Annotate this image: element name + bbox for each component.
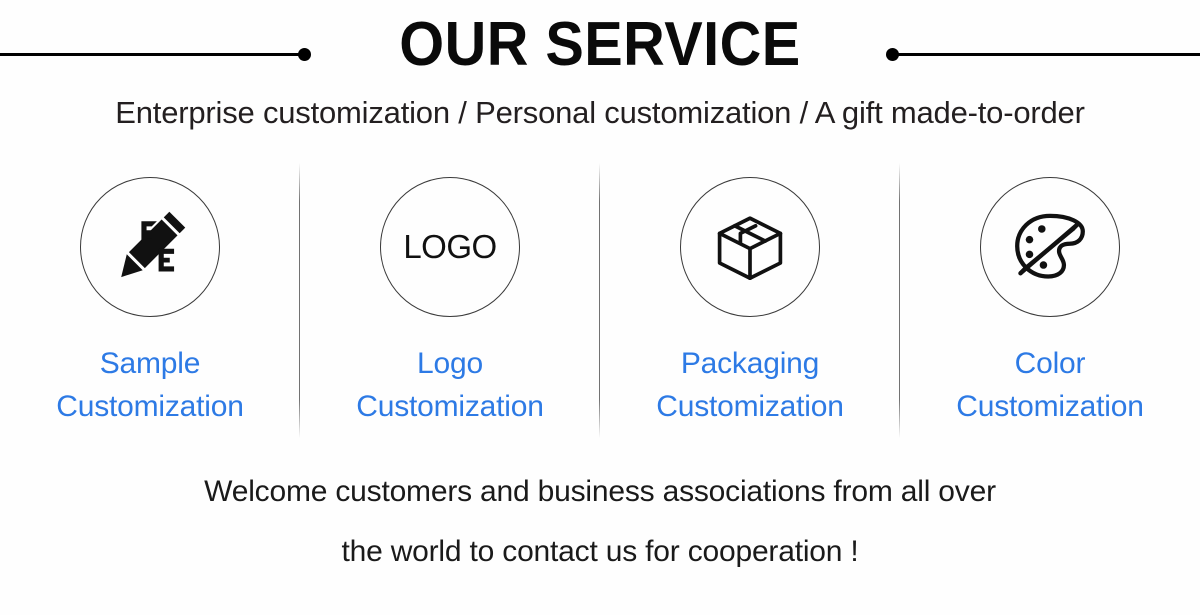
card-label-line1: Packaging — [681, 347, 819, 380]
service-card-label: Color Customization — [956, 343, 1143, 428]
logo-text-icon: LOGO — [403, 228, 496, 266]
icon-circle: LOGO — [380, 177, 520, 317]
card-label-line1: Color — [1015, 347, 1086, 380]
banner-subtitle: Enterprise customization / Personal cust… — [0, 95, 1200, 131]
card-label-line1: Sample — [100, 347, 201, 380]
service-card-label: Logo Customization — [356, 343, 543, 428]
card-label-line1: Logo — [417, 347, 483, 380]
card-label-line2: Customization — [356, 386, 543, 429]
service-card-label: Packaging Customization — [656, 343, 843, 428]
service-card-logo[interactable]: LOGO Logo Customization — [300, 155, 600, 445]
service-card-packaging[interactable]: Packaging Customization — [600, 155, 900, 445]
page-title: OUR SERVICE — [42, 0, 1158, 90]
service-banner: OUR SERVICE Enterprise customization / P… — [0, 0, 1200, 615]
banner-header: OUR SERVICE — [0, 0, 1200, 90]
footer-line-1: Welcome customers and business associati… — [0, 462, 1200, 522]
footer-line-2: the world to contact us for cooperation … — [0, 522, 1200, 582]
banner-footer: Welcome customers and business associati… — [0, 462, 1200, 582]
box-package-icon — [710, 207, 790, 287]
service-card-row: Sample Customization LOGO Logo Customiza… — [0, 155, 1200, 445]
service-card-color[interactable]: Color Customization — [900, 155, 1200, 445]
service-card-label: Sample Customization — [56, 343, 243, 428]
pencil-ruler-icon — [107, 204, 193, 290]
card-label-line2: Customization — [56, 386, 243, 429]
icon-circle — [80, 177, 220, 317]
paint-palette-icon — [1009, 206, 1091, 288]
card-label-line2: Customization — [956, 386, 1143, 429]
service-card-sample[interactable]: Sample Customization — [0, 155, 300, 445]
card-label-line2: Customization — [656, 386, 843, 429]
icon-circle — [680, 177, 820, 317]
icon-circle — [980, 177, 1120, 317]
